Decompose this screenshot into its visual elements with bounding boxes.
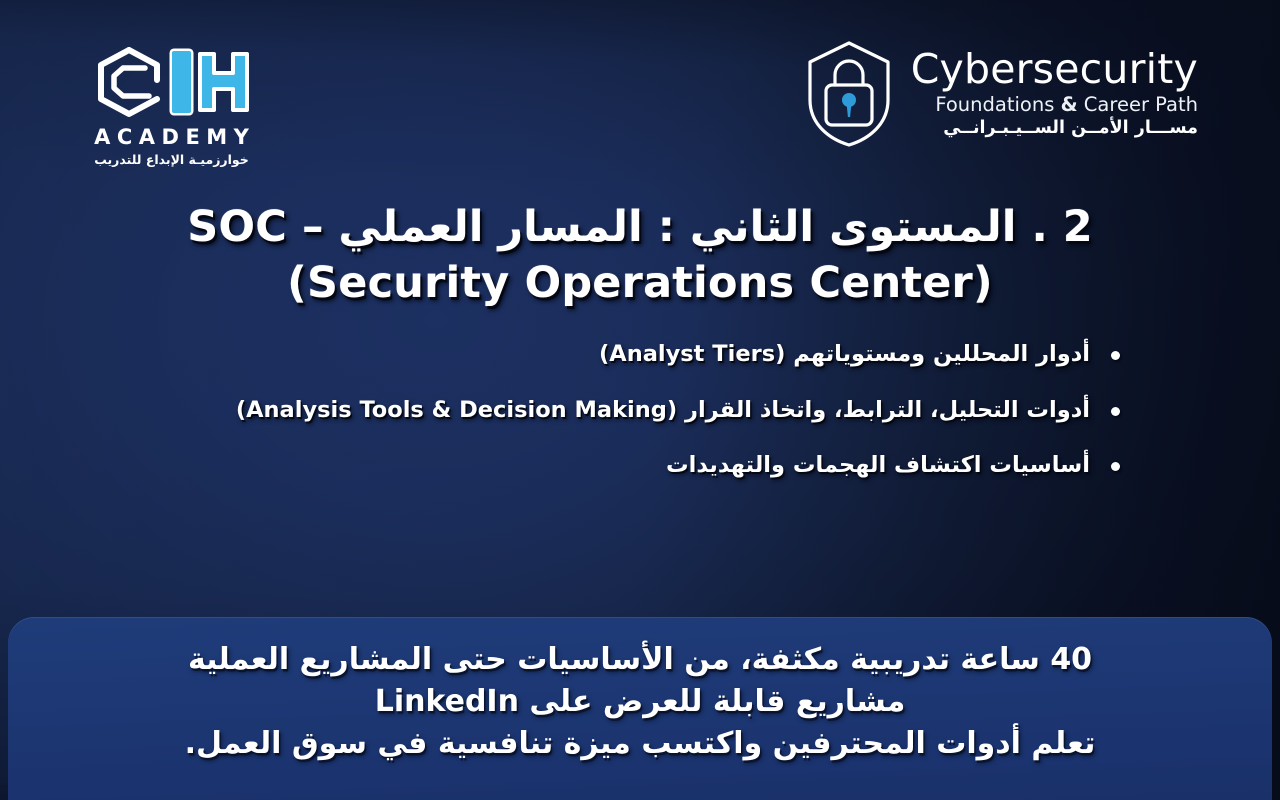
- slide-header: ACADEMY خوارزميـة الإبداع للتدريب Cybers…: [0, 0, 1280, 180]
- slide-body: 2 . المستوى الثاني : المسار العملي – SOC…: [0, 200, 1280, 600]
- subtitle-foundations: Foundations: [935, 93, 1060, 116]
- page-title: 2 . المستوى الثاني : المسار العملي – SOC…: [0, 200, 1280, 312]
- cybersecurity-subtitle: Foundations & Career Path: [911, 94, 1198, 116]
- page-title-line-2: (Security Operations Center): [80, 256, 1200, 312]
- academy-logo: ACADEMY خوارزميـة الإبداع للتدريب: [84, 46, 259, 167]
- list-item: أساسيات اكتشاف الهجمات والتهديدات: [0, 453, 1120, 478]
- footer-line-3: تعلم أدوات المحترفين واكتسب ميزة تنافسية…: [48, 723, 1232, 765]
- subtitle-career-path: Career Path: [1078, 93, 1198, 116]
- cybersecurity-text-block: Cybersecurity Foundations & Career Path …: [911, 49, 1198, 139]
- letter-h-glyph: [196, 51, 251, 113]
- footer-line-2: مشاريع قابلة للعرض على LinkedIn: [48, 681, 1232, 723]
- footer-text-block: 40 ساعة تدريبية مكثفة، من الأساسيات حتى …: [8, 639, 1272, 765]
- list-item: أدوات التحليل، الترابط، واتخاذ القرار (A…: [0, 398, 1120, 423]
- list-item: أدوار المحللين ومستوياتهم (Analyst Tiers…: [0, 342, 1120, 367]
- academy-arabic-tagline: خوارزميـة الإبداع للتدريب: [84, 154, 259, 167]
- page-title-line-1: 2 . المستوى الثاني : المسار العملي – SOC: [80, 200, 1200, 256]
- presentation-slide: ACADEMY خوارزميـة الإبداع للتدريب Cybers…: [0, 0, 1280, 800]
- hexagon-c-icon: [93, 46, 167, 118]
- footer-highlight-panel: 40 ساعة تدريبية مكثفة، من الأساسيات حتى …: [8, 617, 1272, 800]
- cybersecurity-subtitle-arabic: مســـار الأمــن الســيـبـرانــي: [911, 118, 1198, 139]
- letter-i-bar: [172, 51, 191, 113]
- shield-lock-icon: [803, 38, 895, 150]
- topic-list: أدوار المحللين ومستوياتهم (Analyst Tiers…: [0, 342, 1280, 478]
- subtitle-ampersand: &: [1061, 93, 1078, 116]
- academy-wordmark: ACADEMY: [84, 127, 259, 148]
- cybersecurity-lockup: Cybersecurity Foundations & Career Path …: [803, 38, 1198, 150]
- footer-line-1: 40 ساعة تدريبية مكثفة، من الأساسيات حتى …: [48, 639, 1232, 681]
- cybersecurity-title: Cybersecurity: [911, 49, 1198, 91]
- academy-logo-mark: [84, 46, 259, 118]
